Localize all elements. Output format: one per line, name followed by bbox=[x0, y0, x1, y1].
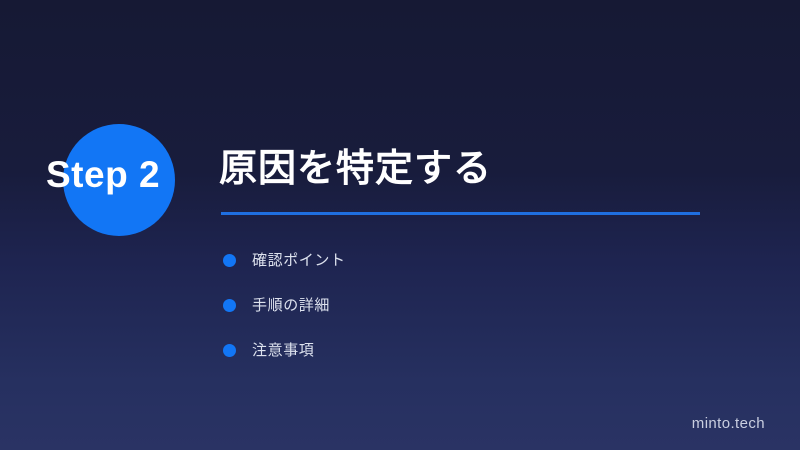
bullet-list: 確認ポイント 手順の詳細 注意事項 bbox=[221, 238, 681, 373]
title-divider bbox=[221, 212, 700, 215]
slide-title: 原因を特定する bbox=[219, 146, 492, 194]
list-item: 確認ポイント bbox=[221, 238, 681, 283]
list-item: 注意事項 bbox=[221, 328, 681, 373]
list-item: 手順の詳細 bbox=[221, 283, 681, 328]
bullet-label: 手順の詳細 bbox=[252, 298, 330, 313]
footer-brand: minto.tech bbox=[692, 416, 765, 431]
step-badge-label: Step 2 bbox=[46, 118, 210, 230]
bullet-dot-icon bbox=[223, 299, 236, 312]
bullet-dot-icon bbox=[223, 254, 236, 267]
bullet-label: 確認ポイント bbox=[252, 253, 346, 268]
step-badge: Step 2 bbox=[0, 118, 210, 230]
slide-canvas: Step 2 原因を特定する 確認ポイント 手順の詳細 注意事項 minto.t… bbox=[0, 0, 800, 450]
bullet-label: 注意事項 bbox=[252, 343, 314, 358]
bullet-dot-icon bbox=[223, 344, 236, 357]
